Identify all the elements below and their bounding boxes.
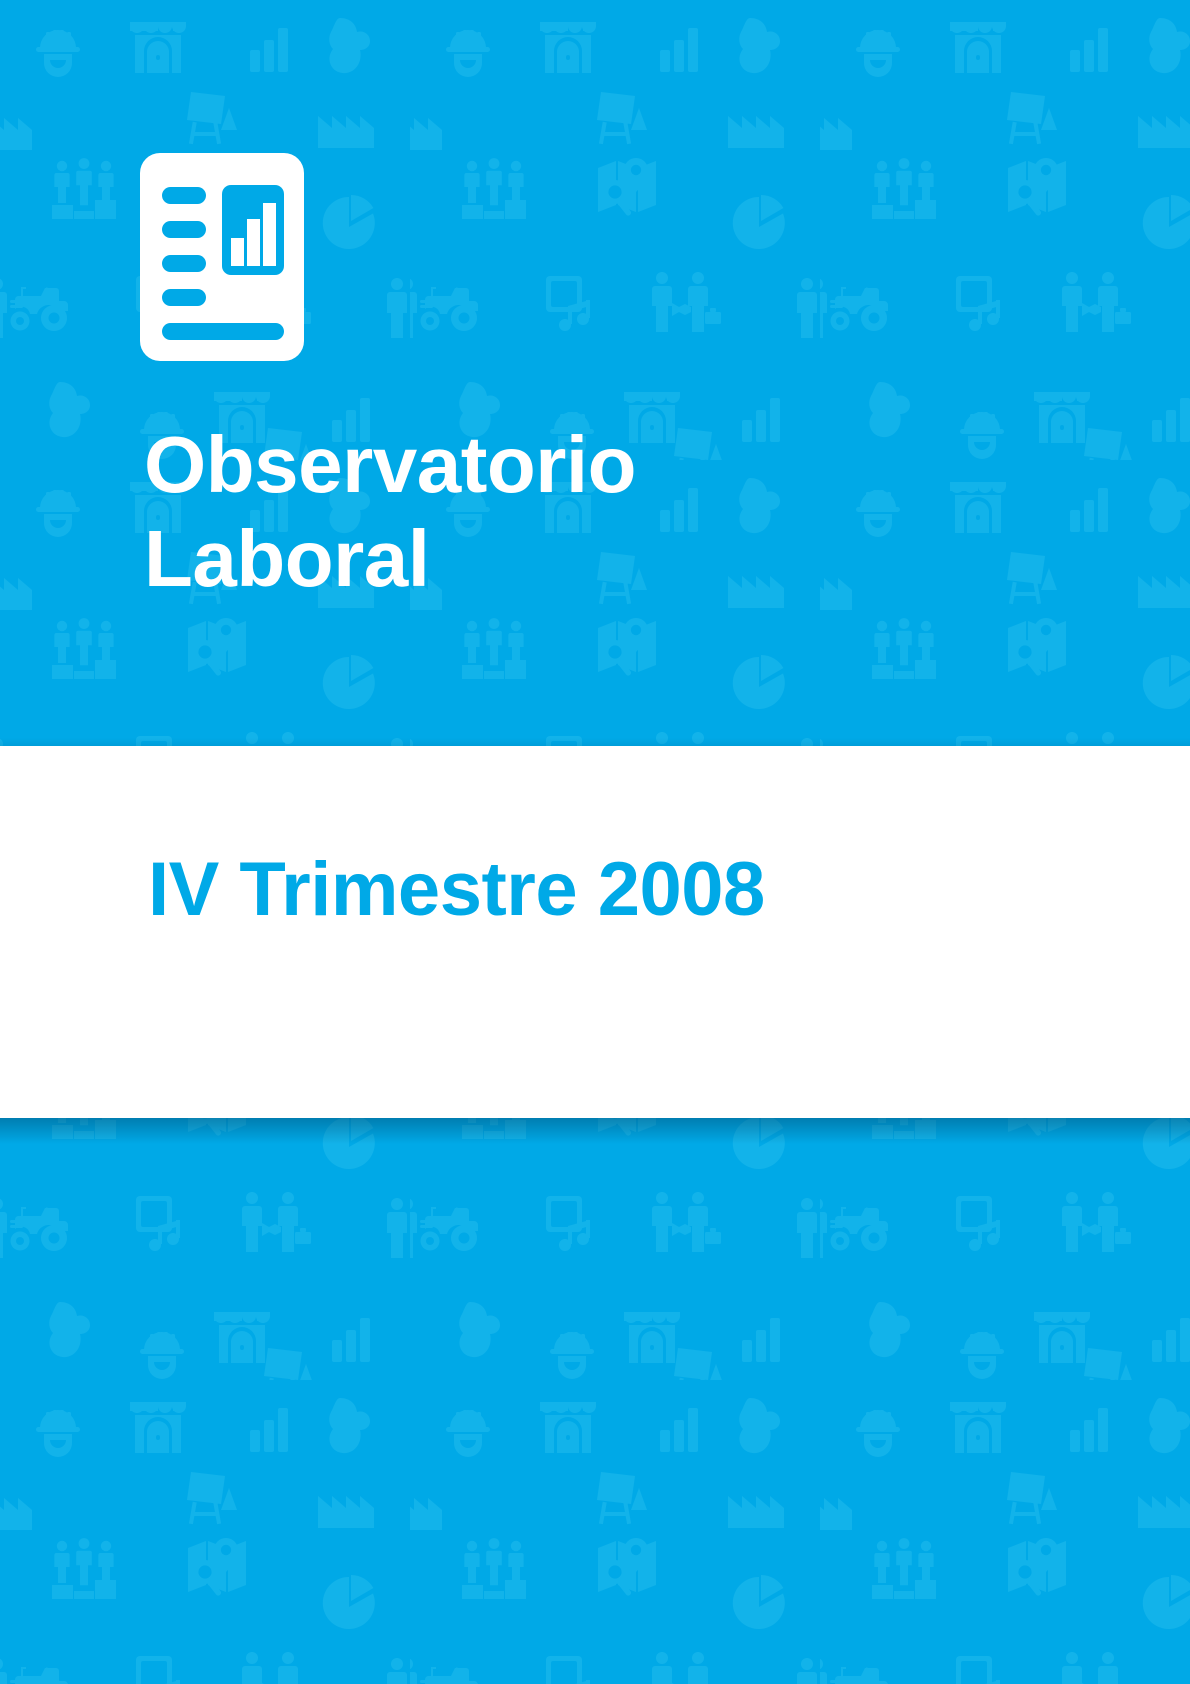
report-document-barchart-icon [140,153,304,361]
report-cover-page: Observatorio Laboral IV Trimestre 2008 [0,0,1190,1684]
page-title: Observatorio Laboral [144,418,964,605]
pattern-tile-top [0,0,1190,746]
pattern-tile-bottom [0,1118,1190,1684]
page-title-line-2: Laboral [144,512,964,606]
page-title-line-1: Observatorio [144,418,964,512]
subtitle-band: IV Trimestre 2008 [0,746,1190,1118]
background-pattern-bottom [0,1118,1190,1684]
background-pattern-top [0,0,1190,746]
page-subtitle: IV Trimestre 2008 [148,846,765,933]
